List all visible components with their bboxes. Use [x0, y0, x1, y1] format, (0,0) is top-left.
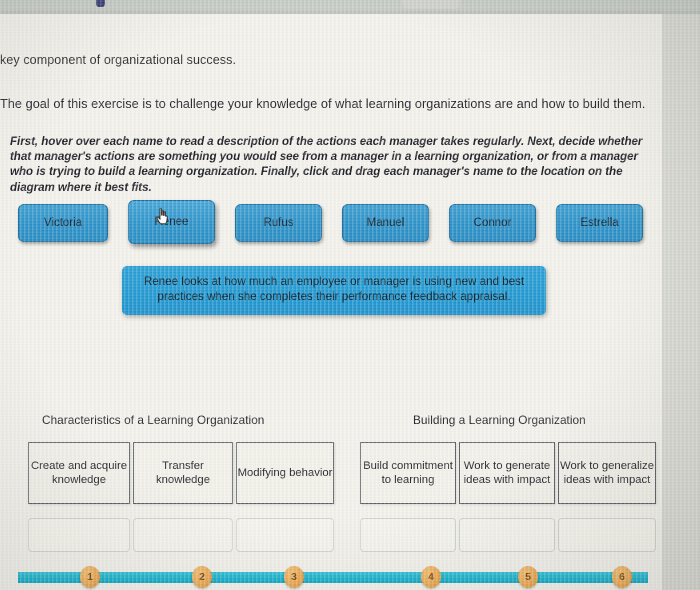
manager-chip-label: Manuel — [367, 217, 405, 229]
concept-box-label: Work to generalize ideas with impact — [559, 459, 655, 487]
manager-chip-renee[interactable]: Renee — [128, 200, 215, 244]
concept-box-label: Work to generate ideas with impact — [460, 459, 554, 487]
photographed-screen: key component of organizational success.… — [0, 0, 700, 590]
concept-box-label: Transfer knowledge — [134, 459, 232, 487]
group-heading-characteristics: Characteristics of a Learning Organizati… — [42, 413, 264, 427]
manager-chip-label: Connor — [474, 217, 512, 229]
concept-box-label: Modifying behavior — [238, 466, 333, 480]
drop-zone-3[interactable] — [236, 518, 334, 552]
concept-box: Modifying behavior — [236, 442, 334, 504]
exercise-page: key component of organizational success.… — [0, 14, 662, 590]
manager-chip-victoria[interactable]: Victoria — [18, 204, 108, 242]
manager-chip-label: Renee — [155, 216, 189, 228]
clipped-heading-line: key component of organizational success. — [0, 54, 640, 67]
progress-step-4[interactable]: 4 — [421, 566, 441, 588]
progress-step-6[interactable]: 6 — [612, 566, 632, 588]
progress-step-label: 4 — [428, 571, 434, 583]
progress-step-label: 5 — [525, 571, 531, 583]
concept-box: Build commitment to learning — [360, 442, 456, 504]
group-heading-building: Building a Learning Organization — [413, 413, 586, 427]
drop-zone-2[interactable] — [133, 518, 233, 552]
drop-zone-5[interactable] — [459, 518, 555, 552]
manager-chip-manuel[interactable]: Manuel — [342, 204, 429, 242]
progress-step-label: 6 — [619, 571, 625, 583]
manager-chip-rufus[interactable]: Rufus — [235, 204, 322, 242]
drop-zone-6[interactable] — [558, 518, 656, 552]
progress-step-2[interactable]: 2 — [192, 566, 212, 588]
concept-box-label: Build commitment to learning — [361, 459, 455, 487]
bookmark-icon — [96, 0, 105, 7]
manager-chip-connor[interactable]: Connor — [449, 204, 536, 242]
drop-zone-4[interactable] — [360, 518, 456, 552]
concept-box-label: Create and acquire knowledge — [29, 459, 129, 487]
browser-tab[interactable] — [402, 0, 460, 9]
browser-chrome-strip — [0, 0, 700, 14]
progress-track — [18, 572, 648, 583]
concept-box: Work to generalize ideas with impact — [558, 442, 656, 504]
progress-step-label: 1 — [87, 571, 93, 583]
concept-box: Create and acquire knowledge — [28, 442, 130, 504]
concept-box: Work to generate ideas with impact — [459, 442, 555, 504]
manager-description-tooltip: Renee looks at how much an employee or m… — [122, 266, 546, 315]
progress-step-5[interactable]: 5 — [518, 566, 538, 588]
drop-zone-1[interactable] — [28, 518, 130, 552]
progress-step-3[interactable]: 3 — [284, 566, 304, 588]
manager-chip-label: Rufus — [263, 217, 293, 229]
exercise-goal-text: The goal of this exercise is to challeng… — [0, 97, 670, 111]
exercise-instructions-text: First, hover over each name to read a de… — [10, 134, 660, 195]
manager-chip-label: Estrella — [580, 217, 618, 229]
concept-box: Transfer knowledge — [133, 442, 233, 504]
manager-names-row: VictoriaReneeRufusManuelConnorEstrella — [0, 204, 662, 250]
manager-chip-label: Victoria — [44, 217, 82, 229]
progress-step-label: 2 — [199, 571, 205, 583]
progress-step-1[interactable]: 1 — [80, 566, 100, 588]
progress-step-label: 3 — [291, 571, 297, 583]
page-gutter — [662, 14, 700, 590]
progress-bar: 123456 — [18, 566, 648, 588]
manager-chip-estrella[interactable]: Estrella — [556, 204, 643, 242]
